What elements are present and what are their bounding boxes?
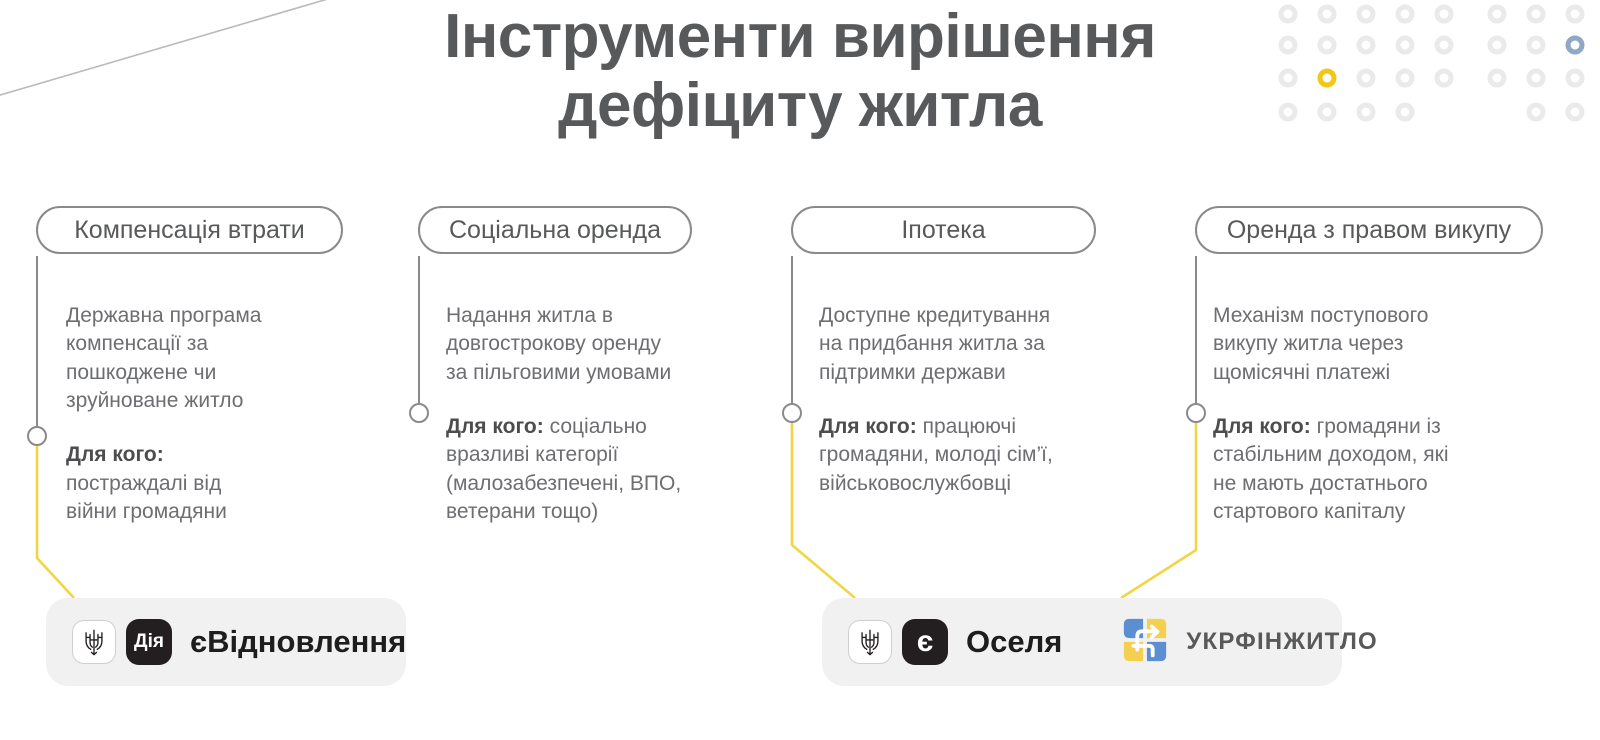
column-header-compensation[interactable]: Компенсація втрати — [36, 206, 343, 254]
column-audience-label: Для кого: — [1213, 415, 1311, 438]
column-audience-label: Для кого: — [446, 415, 544, 438]
partner-name-ukrfinzhytlo: УКРФІНЖИТЛО — [1186, 628, 1377, 656]
column-description: Доступне кредитування на придбання житла… — [819, 302, 1139, 387]
brand-group-oselya: є Оселя — [848, 619, 1062, 665]
column-header-label: Іпотека — [883, 216, 1003, 245]
partner-group-ukrfinzhytlo: УКРФІНЖИТЛО — [1120, 615, 1377, 670]
diia-app-mark: Дія — [126, 619, 172, 665]
badge-evidnovlennya[interactable]: Дія єВідновлення — [46, 598, 406, 686]
column-header-mortgage[interactable]: Іпотека — [791, 206, 1096, 254]
column-audience: Для кого: соціально вразливі категорії (… — [446, 413, 756, 526]
trident-icon — [848, 620, 892, 664]
brand-name-evidnovlennya: єВідновлення — [190, 624, 406, 660]
page-title: Інструменти вирішення дефіциту житла — [330, 2, 1270, 141]
column-header-social-rent[interactable]: Соціальна оренда — [418, 206, 692, 254]
dot-grid — [1281, 7, 1582, 119]
column-audience-label: Для кого: — [819, 415, 917, 438]
column-header-label: Соціальна оренда — [431, 216, 679, 245]
diagonal-accent-line — [0, 0, 338, 98]
column-body-compensation: Державна програма компенсації за пошкодж… — [66, 302, 366, 526]
trident-icon — [72, 620, 116, 664]
ukrfinzhytlo-logo-icon — [1120, 615, 1170, 670]
dot-accent-blue — [1568, 38, 1582, 52]
diia-e-app-mark: є — [902, 619, 948, 665]
column-audience: Для кого: працюючі громадяни, молоді сім… — [819, 413, 1139, 498]
column-header-label: Оренда з правом викупу — [1209, 216, 1529, 245]
column-audience-label: Для кого: — [66, 443, 164, 466]
node-circle-4 — [1187, 404, 1205, 422]
dot-accent-yellow — [1320, 71, 1334, 85]
column-audience: Для кого: громадяни із стабільним доходо… — [1213, 413, 1543, 526]
column-description: Державна програма компенсації за пошкодж… — [66, 302, 366, 415]
column-body-social-rent: Надання житла в довгострокову оренду за … — [446, 302, 756, 526]
column-header-label: Компенсація втрати — [56, 216, 323, 245]
brand-name-oselya: Оселя — [966, 624, 1062, 660]
node-circle-2 — [410, 404, 428, 422]
column-body-mortgage: Доступне кредитування на придбання житла… — [819, 302, 1139, 498]
column-description: Механізм поступового викупу житла через … — [1213, 302, 1543, 387]
node-circle-3 — [783, 404, 801, 422]
column-audience: Для кого: постраждалі від війни громадян… — [66, 441, 366, 526]
brand-group-evidnovlennya: Дія єВідновлення — [72, 619, 406, 665]
node-circle-1 — [28, 427, 46, 445]
column-header-rent-to-own[interactable]: Оренда з правом викупу — [1195, 206, 1543, 254]
badge-oselya[interactable]: є Оселя УКРФІНЖИТЛО — [822, 598, 1342, 686]
column-audience-text: постраждалі від війни громадяни — [66, 472, 227, 523]
column-description: Надання житла в довгострокову оренду за … — [446, 302, 756, 387]
column-body-rent-to-own: Механізм поступового викупу житла через … — [1213, 302, 1543, 526]
